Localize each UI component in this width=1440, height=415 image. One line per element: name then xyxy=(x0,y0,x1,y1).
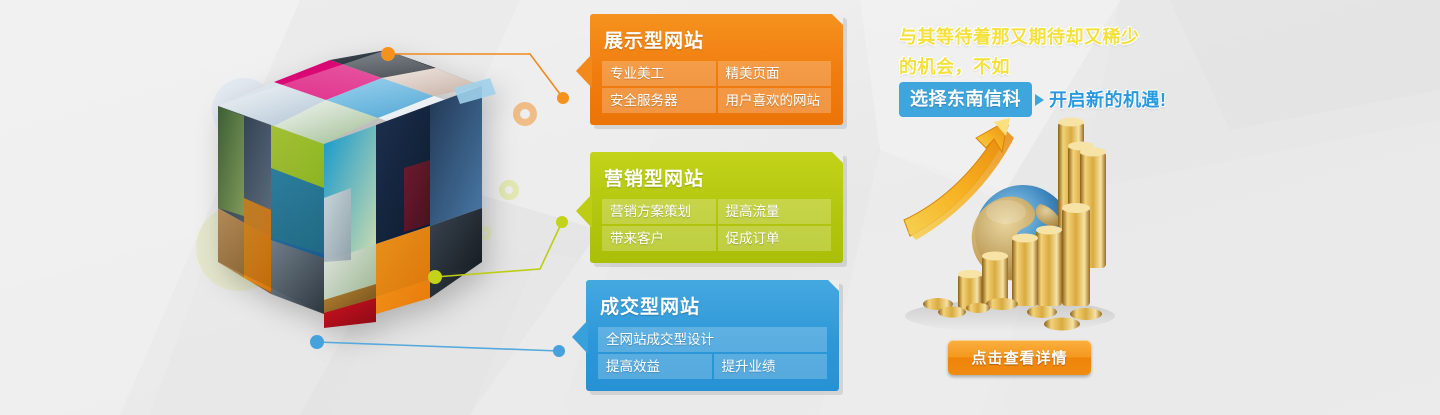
panel-title: 展示型网站 xyxy=(604,26,831,53)
panel-corner-bevel xyxy=(832,152,843,163)
panel-title: 营销型网站 xyxy=(604,164,831,191)
arrow-right-icon xyxy=(1035,94,1044,106)
coin-stack xyxy=(1036,226,1062,307)
panel-feature-rows: 专业美工 精美页面 安全服务器 用户喜欢的网站 xyxy=(602,61,831,113)
feature-cell[interactable]: 提升业绩 xyxy=(714,354,828,379)
headline-block: 与其等待着那又期待却又稀少 的机会，不如 选择东南信科开启新的机遇! xyxy=(899,22,1199,117)
connector-orange-dot-end xyxy=(557,92,569,104)
panel-feature-row: 专业美工 精美页面 xyxy=(602,61,831,86)
loose-coin xyxy=(1070,308,1102,320)
feature-cell[interactable]: 专业美工 xyxy=(602,61,716,86)
view-details-button[interactable]: 点击查看详情 xyxy=(948,340,1091,375)
headline-line-1: 与其等待着那又期待却又稀少 xyxy=(899,22,1199,52)
panel-feature-rows: 营销方案策划 提高流量 带来客户 促成订单 xyxy=(602,199,831,251)
panel-display-website[interactable]: 展示型网站 专业美工 精美页面 安全服务器 用户喜欢的网站 xyxy=(590,14,843,125)
growth-arrow-globe-coins xyxy=(890,108,1115,343)
panel-pointer-icon xyxy=(572,320,588,354)
connector-orange-dot-start xyxy=(381,47,395,61)
feature-cell[interactable]: 提高流量 xyxy=(718,199,832,224)
panel-feature-row: 提高效益 提升业绩 xyxy=(598,354,827,379)
coin-stack xyxy=(1062,203,1090,306)
connector-green xyxy=(435,222,562,277)
panel-marketing-website[interactable]: 营销型网站 营销方案策划 提高流量 带来客户 促成订单 xyxy=(590,152,843,263)
panel-corner-bevel xyxy=(828,280,839,291)
loose-coin xyxy=(1044,318,1080,331)
feature-cell[interactable]: 营销方案策划 xyxy=(602,199,716,224)
feature-cell[interactable]: 精美页面 xyxy=(718,61,832,86)
connector-green-dot-start xyxy=(428,270,442,284)
banner-stage: 展示型网站 专业美工 精美页面 安全服务器 用户喜欢的网站 营销型网站 营销 xyxy=(0,0,1440,415)
loose-coin xyxy=(1027,306,1057,318)
feature-cell[interactable]: 带来客户 xyxy=(602,226,716,251)
feature-cell[interactable]: 安全服务器 xyxy=(602,88,716,113)
panel-feature-rows: 全网站成交型设计 提高效益 提升业绩 xyxy=(598,327,827,379)
panel-corner-bevel xyxy=(832,14,843,25)
loose-coin xyxy=(966,303,990,313)
panel-title: 成交型网站 xyxy=(600,292,827,319)
headline-line-2: 的机会，不如 xyxy=(899,52,1199,82)
panel-feature-row: 安全服务器 用户喜欢的网站 xyxy=(602,88,831,113)
feature-cell[interactable]: 提高效益 xyxy=(598,354,712,379)
feature-cell[interactable]: 全网站成交型设计 xyxy=(598,327,827,352)
connector-blue-dot-start xyxy=(310,335,324,349)
connector-blue xyxy=(317,342,559,351)
coin-stack xyxy=(1012,234,1038,307)
panel-feature-row: 带来客户 促成订单 xyxy=(602,226,831,251)
connector-orange xyxy=(388,54,563,98)
panel-pointer-icon xyxy=(576,54,592,88)
panel-deal-website[interactable]: 成交型网站 全网站成交型设计 提高效益 提升业绩 xyxy=(586,280,839,391)
feature-cell[interactable]: 用户喜欢的网站 xyxy=(718,88,832,113)
panel-feature-row: 营销方案策划 提高流量 xyxy=(602,199,831,224)
panel-pointer-icon xyxy=(576,194,592,228)
connector-green-dot-end xyxy=(556,216,568,228)
loose-coin xyxy=(986,298,1018,310)
connector-blue-dot-end xyxy=(553,345,565,357)
loose-coin xyxy=(938,307,966,318)
panel-feature-row: 全网站成交型设计 xyxy=(598,327,827,352)
feature-cell[interactable]: 促成订单 xyxy=(718,226,832,251)
